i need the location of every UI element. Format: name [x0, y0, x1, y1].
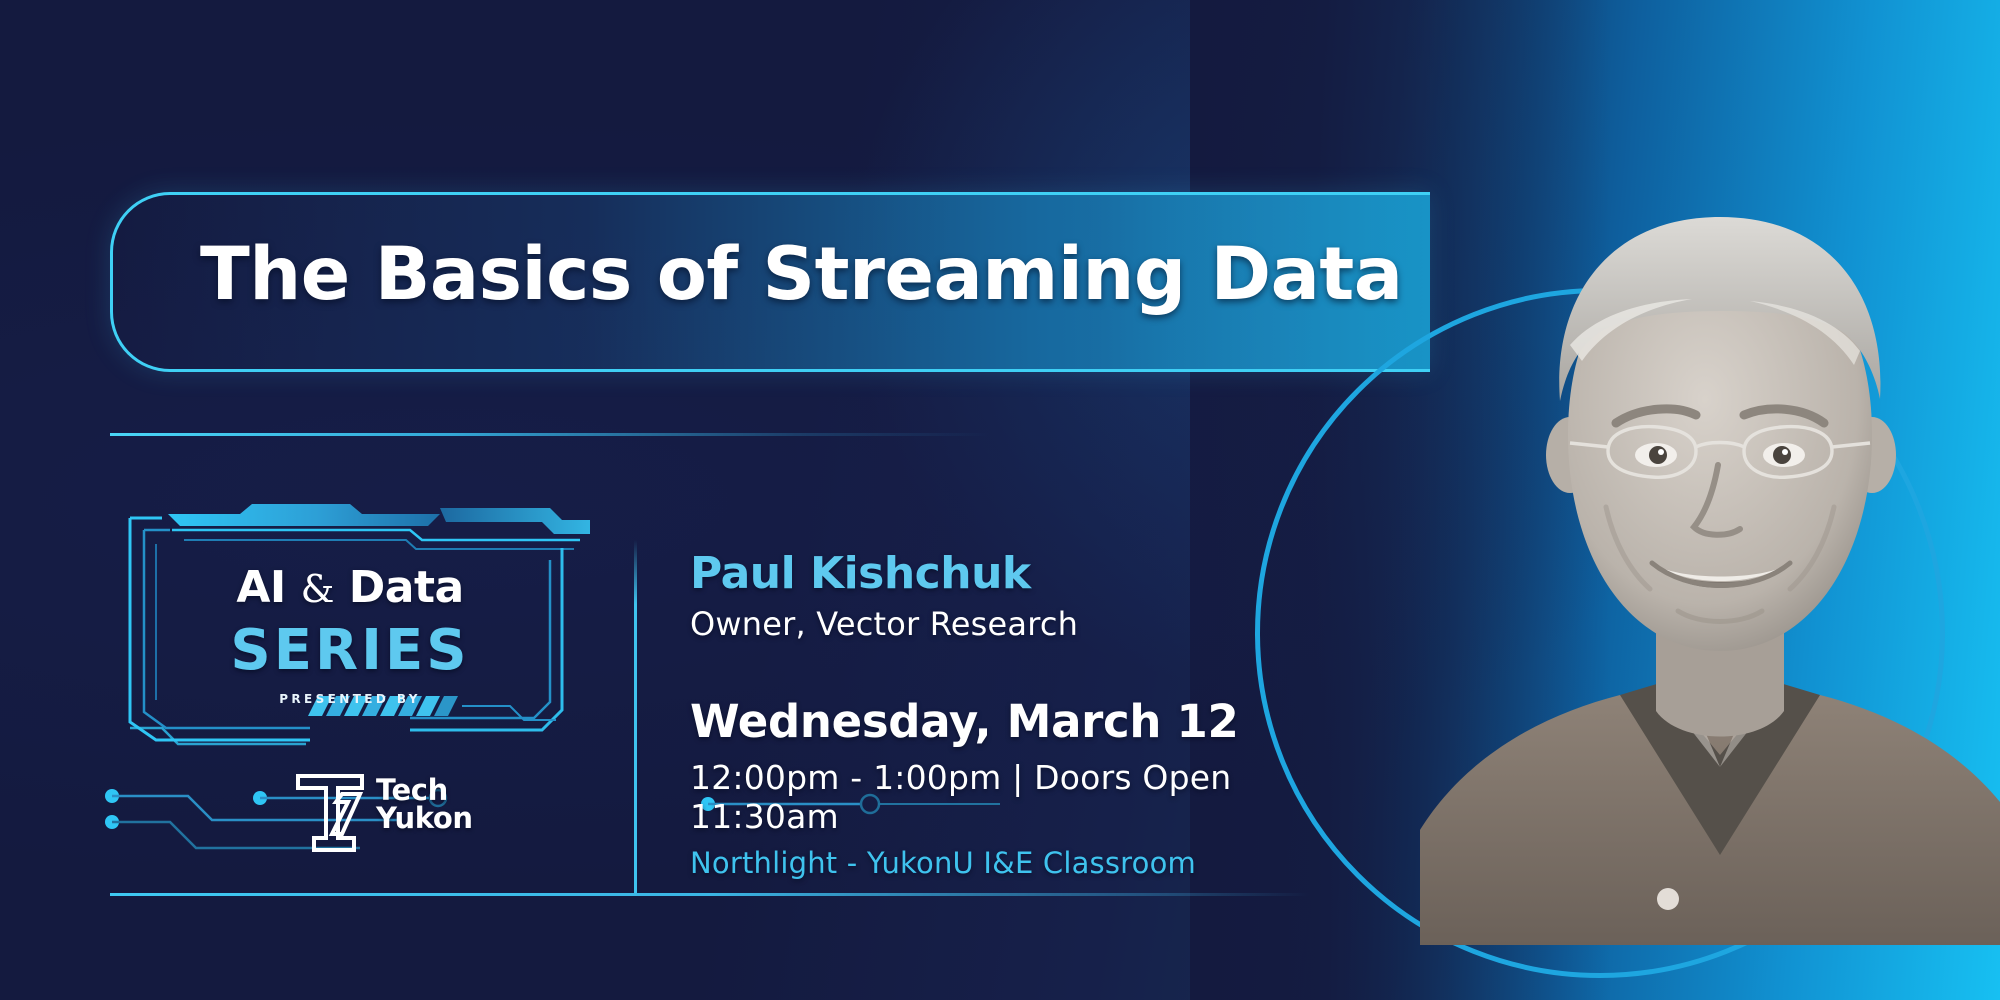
speaker-role: Owner, Vector Research — [690, 605, 1250, 643]
series-title: AI & Data — [110, 562, 590, 613]
sponsor-name: Tech Yukon — [376, 776, 473, 832]
series-title-data: Data — [349, 562, 464, 613]
series-subtitle: SERIES — [110, 618, 590, 683]
divider-bottom — [110, 893, 1310, 896]
sponsor-name-line2: Yukon — [376, 804, 473, 832]
series-title-ampersand: & — [301, 567, 334, 611]
tech-yukon-mark-icon — [292, 772, 370, 854]
series-title-ai: AI — [236, 562, 285, 613]
series-logo: AI & Data SERIES PRESENTED BY — [110, 500, 590, 760]
presented-by-label: PRESENTED BY — [110, 692, 590, 706]
sponsor-logo: Tech Yukon — [292, 772, 452, 854]
event-time: 12:00pm - 1:00pm | Doors Open 11:30am — [690, 758, 1250, 836]
event-venue: Northlight - YukonU I&E Classroom — [690, 846, 1250, 880]
event-date: Wednesday, March 12 — [690, 695, 1250, 748]
speaker-portrait — [1420, 155, 2000, 945]
sponsor-name-line1: Tech — [376, 776, 473, 804]
page-title: The Basics of Streaming Data — [200, 232, 1350, 317]
speaker-name: Paul Kishchuk — [690, 548, 1250, 599]
event-banner: The Basics of Streaming Data — [0, 0, 2000, 1000]
speaker-photo — [1420, 155, 2000, 945]
event-details: Paul Kishchuk Owner, Vector Research Wed… — [690, 548, 1250, 880]
divider-top — [110, 433, 990, 436]
